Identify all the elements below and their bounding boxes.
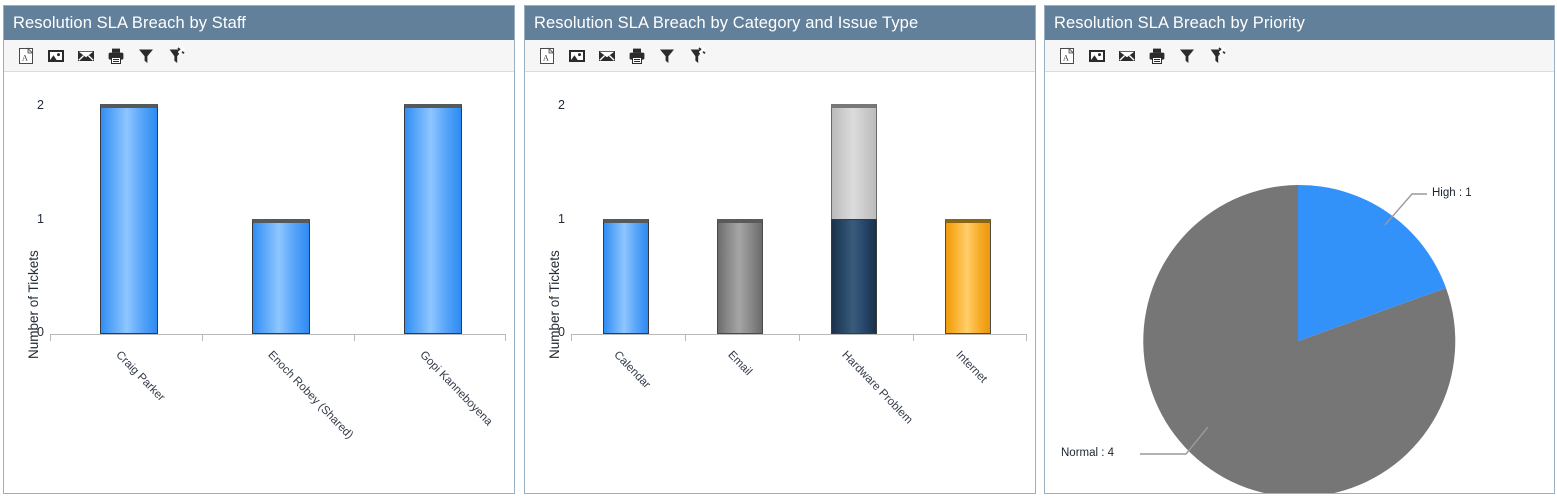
- x-label-enoch-robey: Enoch Robey (Shared): [265, 349, 355, 441]
- print-icon[interactable]: [106, 46, 126, 66]
- email-icon[interactable]: [597, 46, 617, 66]
- panel-resolution-sla-breach-by-category-and-issue-type: Resolution SLA Breach by Category and Is…: [524, 5, 1036, 494]
- svg-text:A: A: [1063, 53, 1069, 62]
- x-label-gopi-kanneboyena: Gopi Kanneboyena: [417, 349, 494, 428]
- x-label-craig-parker: Craig Parker: [113, 349, 166, 404]
- bar-hardware-problem-segment-2[interactable]: [831, 104, 877, 220]
- filter-icon[interactable]: [657, 46, 677, 66]
- export-image-icon[interactable]: [567, 46, 587, 66]
- panel-resolution-sla-breach-by-staff: Resolution SLA Breach by Staff A: [3, 5, 515, 494]
- x-tick: [202, 334, 203, 341]
- panel-header: Resolution SLA Breach by Staff: [4, 6, 514, 40]
- export-pdf-icon[interactable]: A: [16, 46, 36, 66]
- pie-label-normal: Normal : 4: [1061, 447, 1114, 459]
- x-label-email: Email: [725, 349, 754, 378]
- bar-email[interactable]: [717, 219, 763, 334]
- y-tick-0: 0: [543, 325, 565, 339]
- bar-gopi-kanneboyena[interactable]: [404, 104, 462, 334]
- panel-toolbar: A: [525, 40, 1035, 72]
- x-axis-line: [50, 334, 506, 335]
- clear-filter-icon[interactable]: [1207, 46, 1227, 66]
- x-tick: [799, 334, 800, 341]
- clear-filter-icon[interactable]: [687, 46, 707, 66]
- email-icon[interactable]: [76, 46, 96, 66]
- x-label-calendar: Calendar: [611, 349, 652, 391]
- bar-enoch-robey[interactable]: [252, 219, 310, 334]
- export-pdf-icon[interactable]: A: [1057, 46, 1077, 66]
- clear-filter-icon[interactable]: [166, 46, 186, 66]
- bar-calendar[interactable]: [603, 219, 649, 334]
- pie-label-high: High : 1: [1432, 187, 1472, 199]
- email-icon[interactable]: [1117, 46, 1137, 66]
- panel-resolution-sla-breach-by-priority: Resolution SLA Breach by Priority A: [1044, 5, 1555, 494]
- export-image-icon[interactable]: [1087, 46, 1107, 66]
- x-tick: [354, 334, 355, 341]
- y-tick-1: 1: [22, 212, 44, 226]
- panel-header: Resolution SLA Breach by Category and Is…: [525, 6, 1035, 40]
- x-label-hardware-problem: Hardware Problem: [839, 349, 914, 426]
- x-tick: [50, 334, 51, 341]
- x-tick: [913, 334, 914, 341]
- panel-toolbar: A: [1045, 40, 1554, 72]
- x-tick: [685, 334, 686, 341]
- bar-internet[interactable]: [945, 219, 991, 334]
- chart-priority: High : 1 Normal : 4: [1045, 72, 1554, 493]
- bar-hardware-problem-segment-1[interactable]: [831, 219, 877, 334]
- export-image-icon[interactable]: [46, 46, 66, 66]
- bar-craig-parker[interactable]: [100, 104, 158, 334]
- y-tick-0: 0: [22, 325, 44, 339]
- page-title: Resolution SLA Breach by Category and Is…: [534, 14, 918, 33]
- dashboard-root: Resolution SLA Breach by Staff A: [0, 0, 1557, 499]
- export-pdf-icon[interactable]: A: [537, 46, 557, 66]
- print-icon[interactable]: [1147, 46, 1167, 66]
- panel-header: Resolution SLA Breach by Priority: [1045, 6, 1554, 40]
- chart-staff: Number of Tickets 2 1 0 Craig Parker Eno…: [4, 72, 514, 493]
- page-title: Resolution SLA Breach by Staff: [13, 14, 246, 33]
- y-tick-2: 2: [543, 98, 565, 112]
- svg-text:A: A: [22, 53, 28, 62]
- panel-toolbar: A: [4, 40, 514, 72]
- filter-icon[interactable]: [136, 46, 156, 66]
- y-tick-2: 2: [22, 98, 44, 112]
- print-icon[interactable]: [627, 46, 647, 66]
- chart-category-issue-type: Number of Tickets 2 1 0 Calendar Email H…: [525, 72, 1035, 493]
- x-tick: [571, 334, 572, 341]
- y-tick-1: 1: [543, 212, 565, 226]
- y-axis-label: Number of Tickets: [26, 250, 41, 359]
- page-title: Resolution SLA Breach by Priority: [1054, 14, 1305, 33]
- y-axis-label: Number of Tickets: [547, 250, 562, 359]
- x-tick: [505, 334, 506, 341]
- filter-icon[interactable]: [1177, 46, 1197, 66]
- pie-chart: High : 1 Normal : 4: [1045, 72, 1554, 493]
- x-label-internet: Internet: [953, 349, 989, 385]
- x-tick: [1026, 334, 1027, 341]
- svg-text:A: A: [543, 53, 549, 62]
